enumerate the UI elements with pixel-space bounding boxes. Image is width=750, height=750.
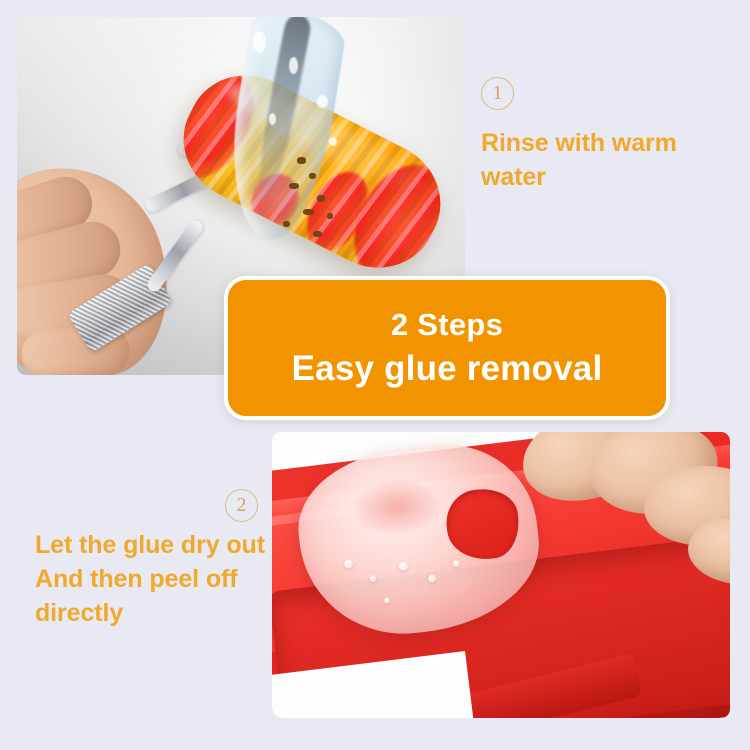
glue-fleck — [327, 213, 333, 219]
water-droplet — [452, 560, 460, 568]
banner-headline: Easy glue removal — [292, 349, 603, 388]
glue-fleck — [303, 209, 314, 215]
water-splash — [289, 57, 298, 74]
water-droplet — [398, 561, 409, 571]
water-splash — [269, 113, 276, 125]
banner-step-count: 2 Steps — [391, 308, 503, 343]
glue-fleck — [283, 221, 290, 227]
step-caption-1: Rinse with warm water — [481, 126, 746, 194]
water-droplet — [384, 597, 391, 604]
glue-fleck — [309, 173, 316, 179]
water-droplet — [369, 575, 377, 583]
glue-fleck — [289, 183, 299, 189]
headline-banner: 2 Steps Easy glue removal — [224, 276, 670, 420]
glue-fleck — [297, 157, 306, 164]
water-splash — [317, 95, 328, 108]
water-splash — [329, 137, 337, 146]
water-droplet — [344, 559, 354, 569]
water-droplet — [428, 574, 437, 583]
step-number-1: 1 — [481, 77, 514, 110]
step-number-2: 2 — [225, 489, 258, 522]
water-splash — [253, 31, 266, 53]
photo-peel-glue — [272, 432, 730, 718]
glue-fleck — [313, 231, 322, 237]
step-caption-2: Let the glue dry out And then peel off d… — [35, 528, 270, 630]
film-blush — [352, 476, 441, 538]
film-tear-notch — [443, 486, 522, 563]
infographic-canvas: 2 Steps Easy glue removal 1 Rinse with w… — [0, 0, 750, 750]
glue-fleck — [317, 195, 325, 202]
